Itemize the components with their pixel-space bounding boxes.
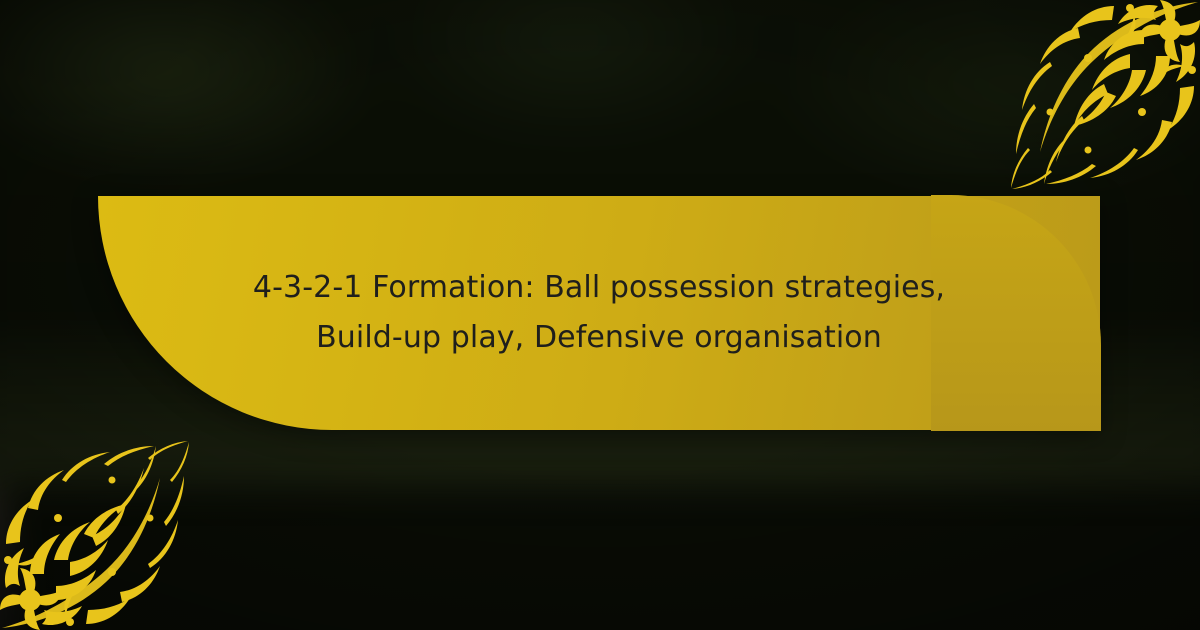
title-line-1: 4-3-2-1 Formation: Ball possession strat… <box>253 266 945 310</box>
top-right-filigree-ornament <box>1010 0 1200 190</box>
bottom-left-filigree-ornament <box>0 440 190 630</box>
social-card: 4-3-2-1 Formation: Ball possession strat… <box>0 0 1200 630</box>
title-line-2: Build-up play, Defensive organisation <box>316 316 882 360</box>
title-banner-text: 4-3-2-1 Formation: Ball possession strat… <box>98 196 1100 430</box>
